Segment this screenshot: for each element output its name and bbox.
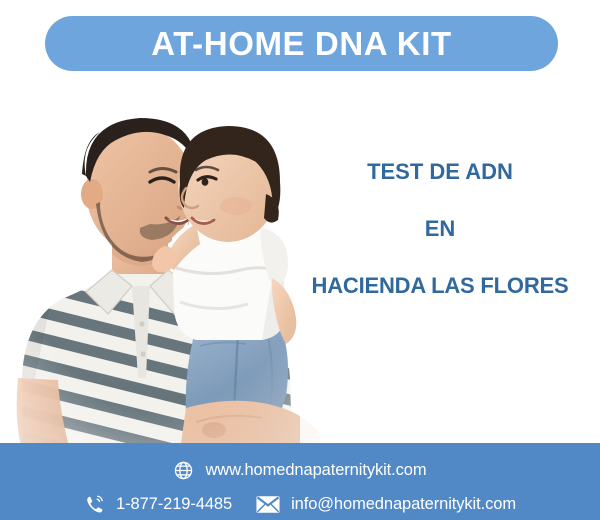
website-item[interactable]: www.homednapaternitykit.com xyxy=(173,460,426,481)
phone-text: 1-877-219-4485 xyxy=(116,495,232,514)
phone-icon xyxy=(84,494,105,515)
headline-line-3: HACIENDA LAS FLORES xyxy=(290,274,590,297)
page-title: AT-HOME DNA KIT xyxy=(151,27,451,60)
phone-item[interactable]: 1-877-219-4485 xyxy=(84,494,232,515)
website-text: www.homednapaternitykit.com xyxy=(205,461,426,480)
headline-line-2: EN xyxy=(290,217,590,240)
promo-card: AT-HOME DNA KIT xyxy=(0,0,600,520)
footer-row-phone-email: 1-877-219-4485 info@homednapaternitykit.… xyxy=(0,490,600,518)
envelope-icon xyxy=(256,495,280,514)
email-text: info@homednapaternitykit.com xyxy=(291,495,516,514)
headline-line-1: TEST DE ADN xyxy=(290,160,590,183)
footer-contact-bar: www.homednapaternitykit.com 1-877-219-44… xyxy=(0,443,600,520)
header-banner: AT-HOME DNA KIT xyxy=(45,16,558,71)
headline-block: TEST DE ADN EN HACIENDA LAS FLORES xyxy=(290,160,590,297)
family-photo-illustration xyxy=(0,78,330,450)
family-photo xyxy=(0,78,330,450)
globe-icon xyxy=(173,460,194,481)
email-item[interactable]: info@homednapaternitykit.com xyxy=(256,495,516,514)
footer-row-website: www.homednapaternitykit.com xyxy=(0,456,600,484)
